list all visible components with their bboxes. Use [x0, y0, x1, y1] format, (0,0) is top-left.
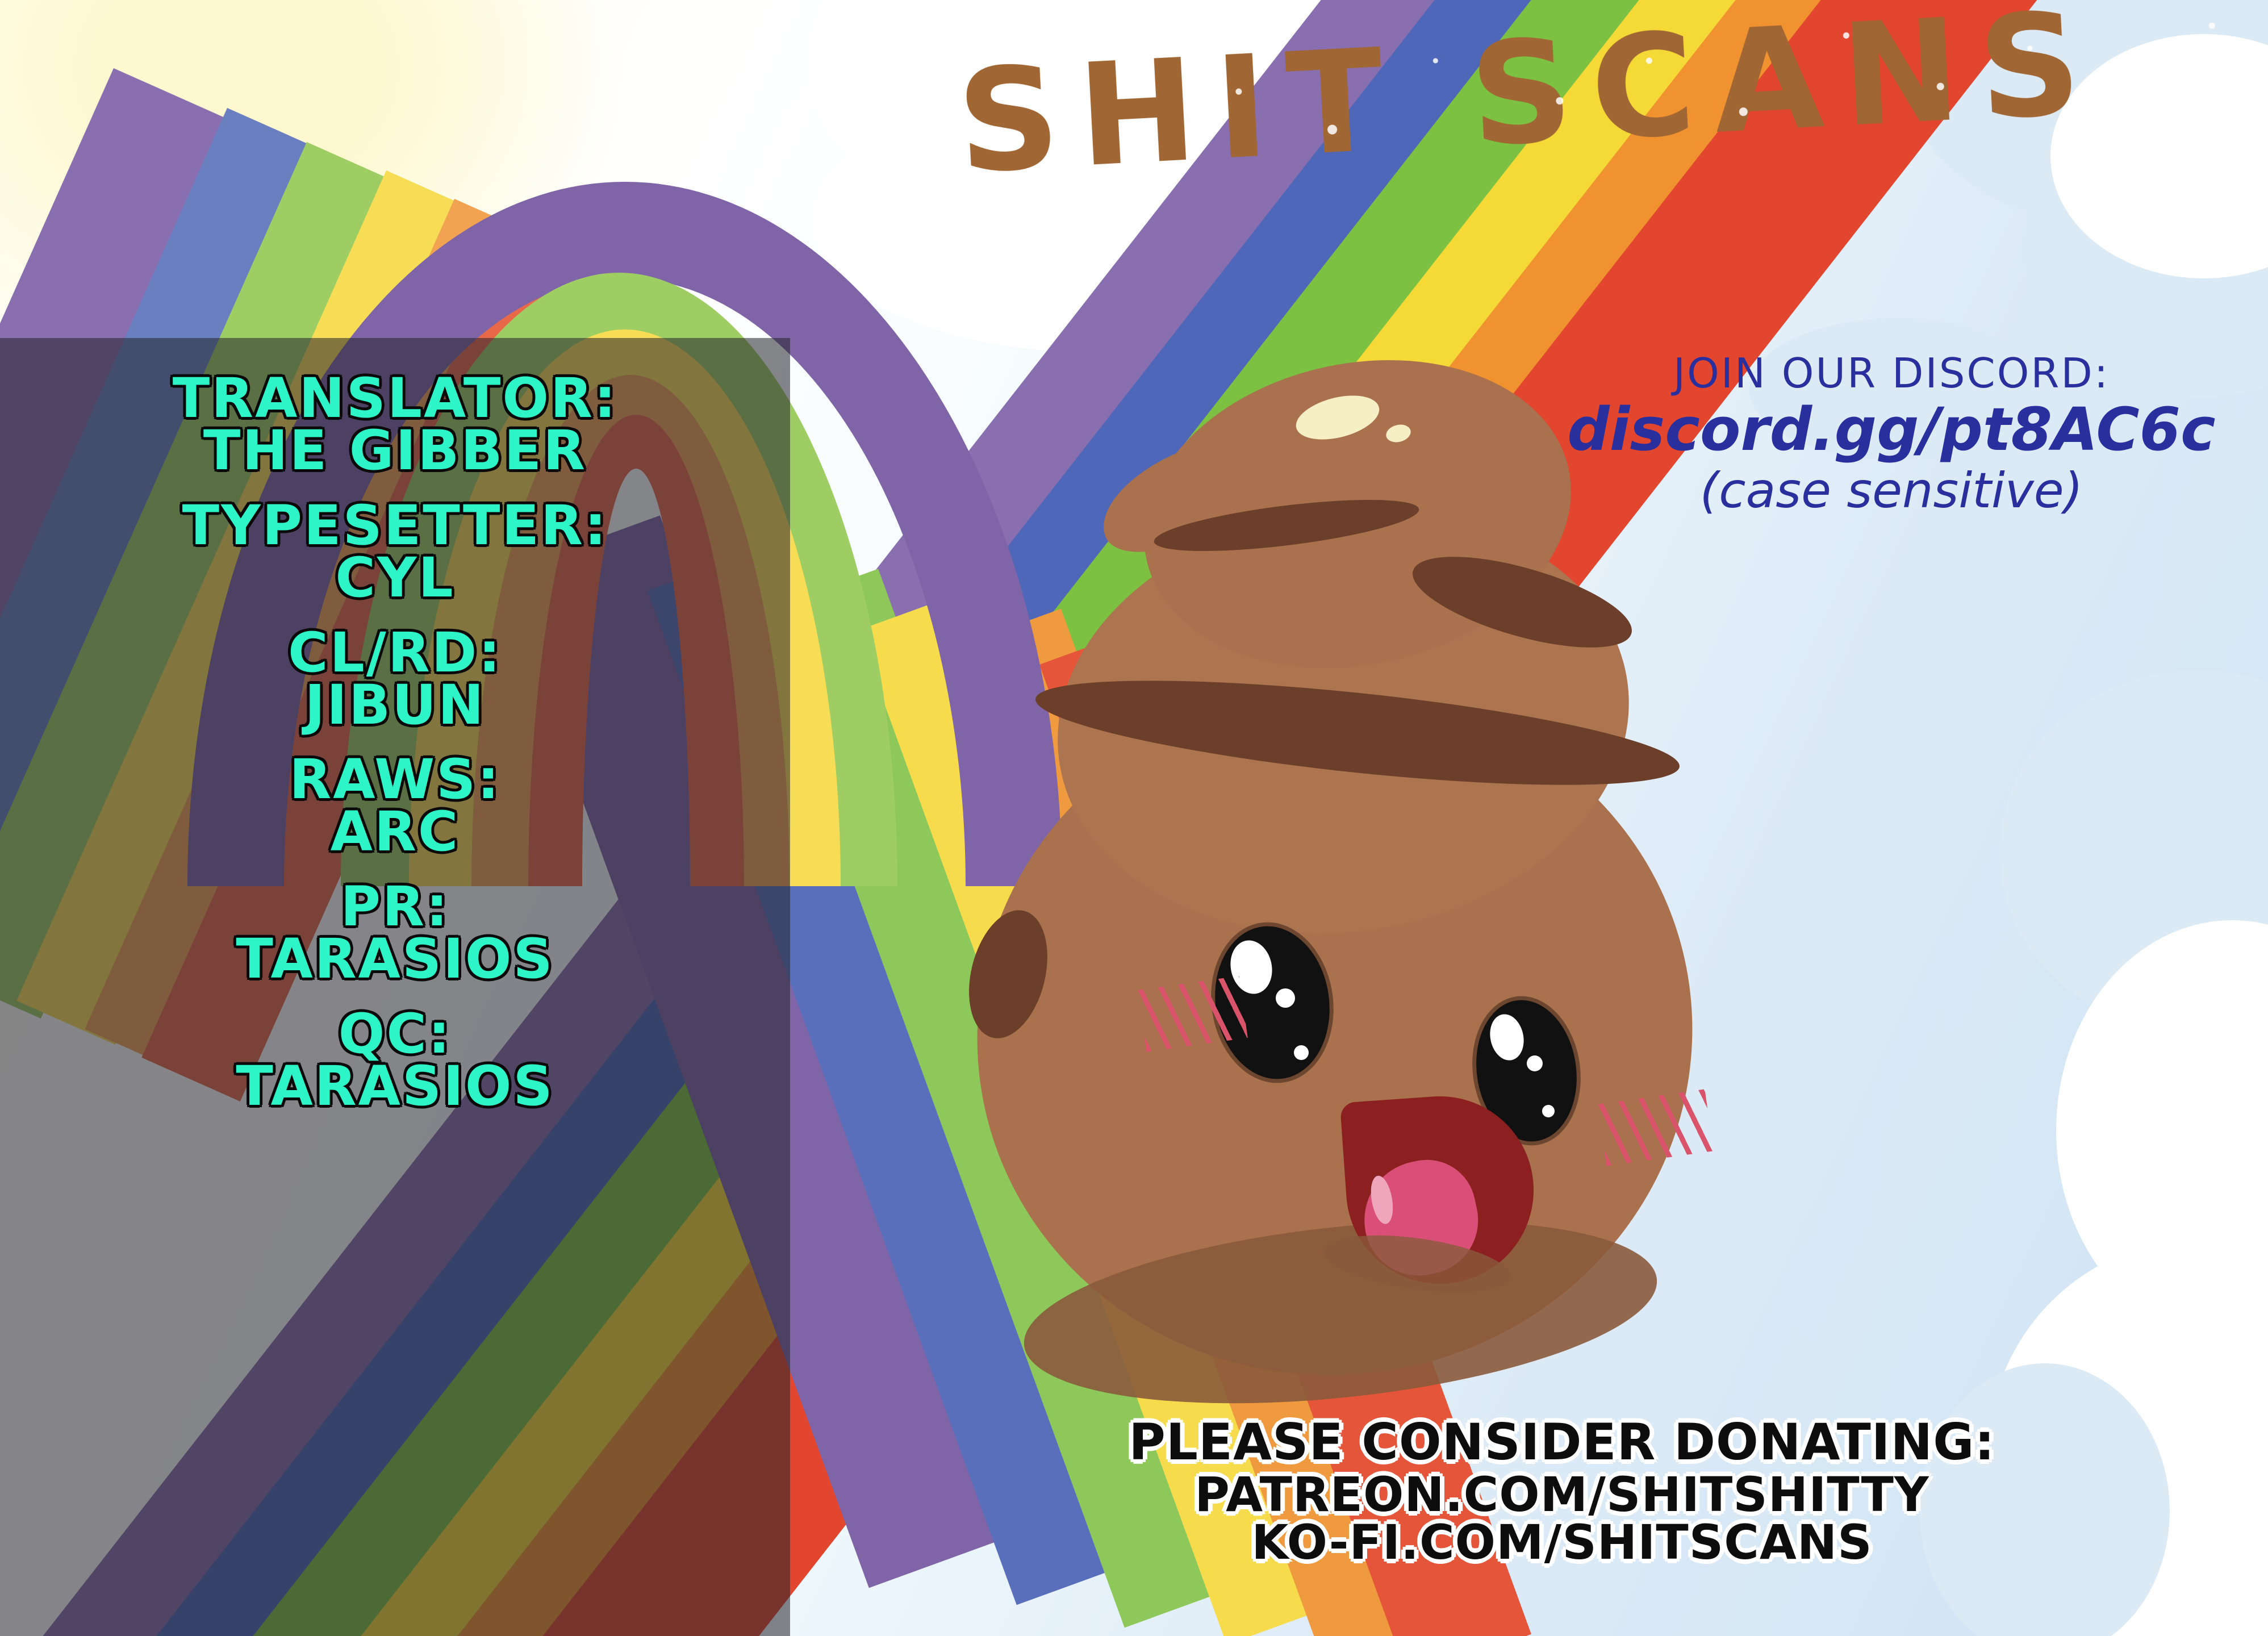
mascot-eye-right-glint-small	[1527, 1055, 1543, 1071]
credit-name-value: TARASIOS	[0, 1059, 790, 1115]
credit-name-value: CYL	[0, 550, 790, 606]
credit-entry-raws: RAWS: ARC	[0, 752, 790, 860]
donation-link-patreon[interactable]: PATREON.COM/SHITSHITTY	[1022, 1471, 2102, 1518]
donation-heading: PLEASE CONSIDER DONATING:	[1022, 1417, 2102, 1467]
credit-name-value: THE GIBBER	[0, 423, 790, 479]
discord-invite-link[interactable]: discord.gg/pt8AC6c	[1522, 397, 2261, 462]
discord-heading: JOIN OUR DISCORD:	[1522, 352, 2261, 395]
discord-case-sensitive-note: (case sensitive)	[1522, 464, 2261, 518]
credit-entry-qc: QC: TARASIOS	[0, 1007, 790, 1115]
mascot-eye-left-glint-small	[1276, 988, 1295, 1008]
credit-name-value: ARC	[0, 804, 790, 860]
credit-name-value: TARASIOS	[0, 932, 790, 987]
donation-block: PLEASE CONSIDER DONATING: PATREON.COM/SH…	[1022, 1417, 2102, 1566]
credit-name-value: JIBUN	[0, 678, 790, 733]
donation-link-kofi[interactable]: KO-FI.COM/SHITSCANS	[1022, 1518, 2102, 1566]
credit-role-label: CL/RD:	[0, 625, 790, 681]
discord-invite-block: JOIN OUR DISCORD: discord.gg/pt8AC6c (ca…	[1522, 352, 2261, 518]
credit-entry-pr: PR: TARASIOS	[0, 879, 790, 987]
mascot-eye-right-glint-lower	[1542, 1105, 1555, 1117]
mascot-eye-left-glint-lower	[1294, 1045, 1309, 1060]
credit-entry-typesetter: TYPESETTER: CYL	[0, 498, 790, 606]
credit-entry-translator: TRANSLATOR: THE GIBBER	[0, 371, 790, 479]
credits-panel: TRANSLATOR: THE GIBBER TYPESETTER: CYL C…	[0, 338, 790, 1636]
scanlation-credits-page: SHIT SCANS JOIN OUR DISCORD: discord.gg/…	[0, 0, 2268, 1636]
credit-entry-cl-rd: CL/RD: JIBUN	[0, 625, 790, 733]
